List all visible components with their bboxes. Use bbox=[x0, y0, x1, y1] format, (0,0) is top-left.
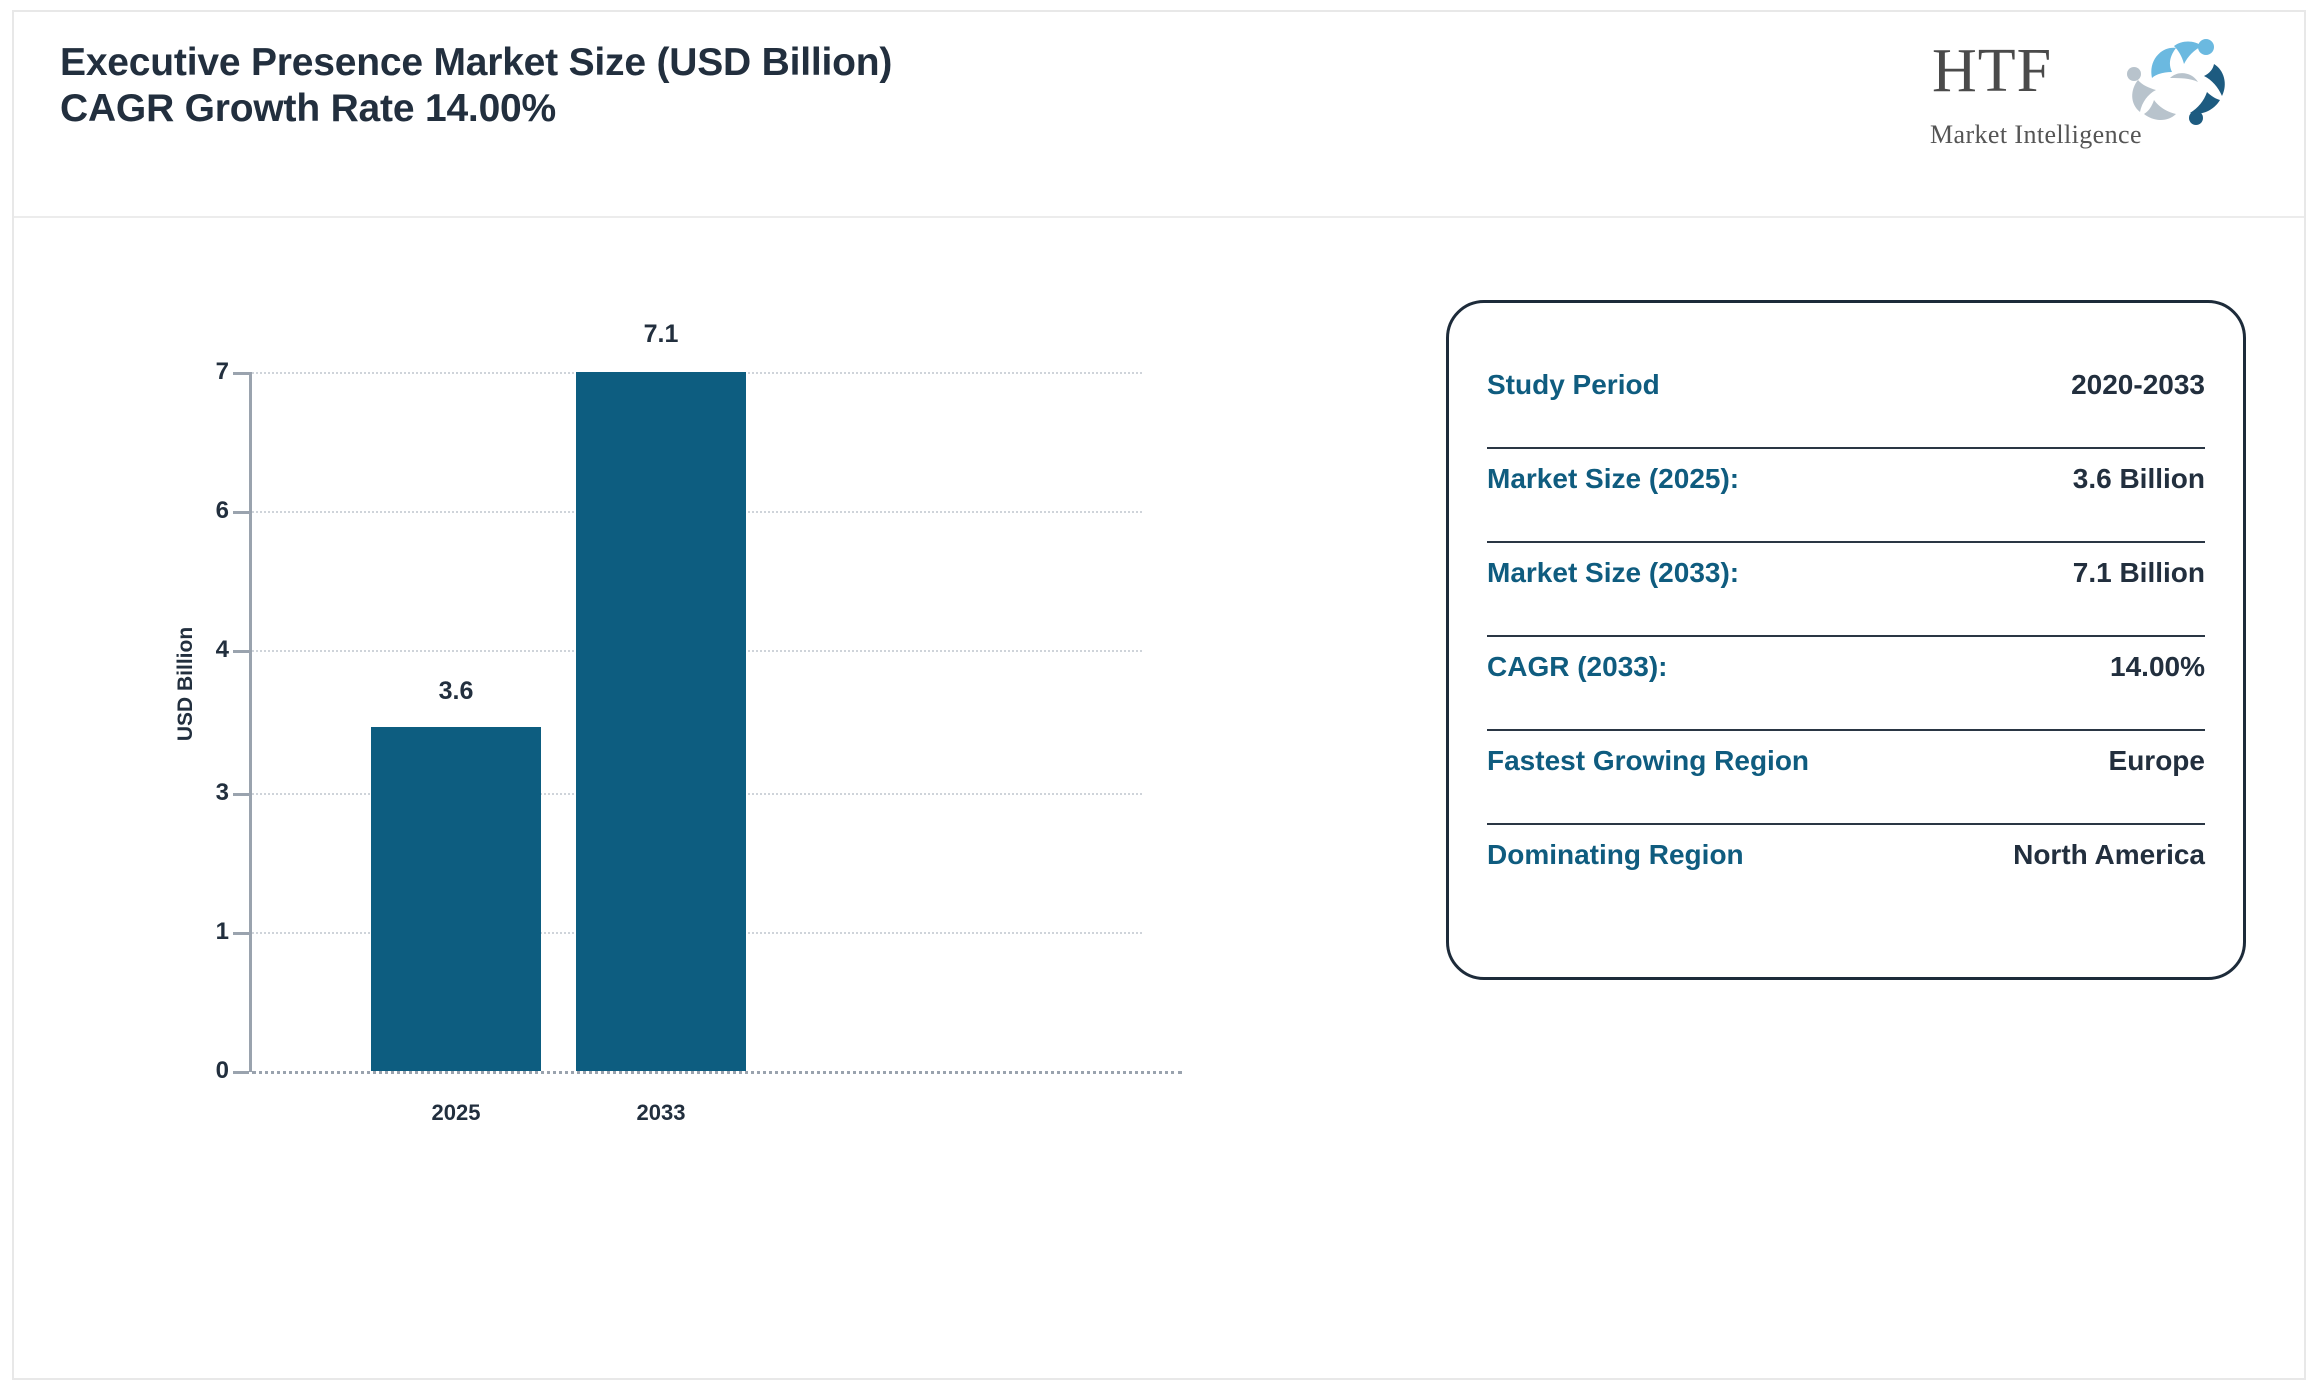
page-title-line-2: CAGR Growth Rate 14.00% bbox=[60, 86, 1620, 132]
summary-label: Market Size (2033): bbox=[1487, 557, 1739, 589]
tick-mark-6 bbox=[233, 511, 249, 514]
header: Executive Presence Market Size (USD Bill… bbox=[14, 12, 2304, 218]
tick-mark-1 bbox=[233, 932, 249, 935]
summary-value: 14.00% bbox=[2110, 651, 2205, 683]
summary-value: North America bbox=[2013, 839, 2205, 871]
bar-value-2033: 7.1 bbox=[576, 320, 746, 349]
htf-logo: HTF bbox=[1922, 32, 2252, 152]
summary-row-fastest-growing-region: Fastest Growing Region Europe bbox=[1487, 731, 2205, 825]
logo-primary-row: HTF bbox=[1922, 34, 2252, 116]
bar-2025[interactable] bbox=[371, 727, 541, 1071]
summary-label: Market Size (2025): bbox=[1487, 463, 1739, 495]
summary-row-study-period: Study Period 2020-2033 bbox=[1487, 355, 2205, 449]
summary-value: 7.1 Billion bbox=[2073, 557, 2205, 589]
y-tick-label-3: 3 bbox=[189, 781, 229, 805]
summary-label: Study Period bbox=[1487, 369, 1660, 401]
summary-row-cagr-2033: CAGR (2033): 14.00% bbox=[1487, 637, 2205, 731]
summary-value: Europe bbox=[2109, 745, 2205, 777]
page-title-line-1: Executive Presence Market Size (USD Bill… bbox=[60, 40, 1620, 86]
x-tick-label-2033: 2033 bbox=[576, 1100, 746, 1126]
tick-mark-4 bbox=[233, 650, 249, 653]
page-frame: Executive Presence Market Size (USD Bill… bbox=[12, 10, 2306, 1380]
summary-label: Dominating Region bbox=[1487, 839, 1744, 871]
market-summary-rows: Study Period 2020-2033 Market Size (2025… bbox=[1487, 355, 2205, 919]
bar-2033[interactable] bbox=[576, 372, 746, 1071]
summary-value: 2020-2033 bbox=[2071, 369, 2205, 401]
logo-tagline: Market Intelligence bbox=[1930, 120, 2142, 150]
y-tick-label-4: 4 bbox=[189, 638, 229, 662]
y-tick-label-7: 7 bbox=[189, 360, 229, 384]
summary-label: Fastest Growing Region bbox=[1487, 745, 1809, 777]
plot-area: USD Billion 7 6 4 3 1 0 3.6 7.1 bbox=[249, 372, 1179, 1072]
tick-mark-0 bbox=[233, 1071, 249, 1074]
y-axis-line bbox=[249, 372, 252, 1072]
x-tick-label-2025: 2025 bbox=[371, 1100, 541, 1126]
bar-chart: USD Billion 7 6 4 3 1 0 3.6 7.1 bbox=[74, 242, 1374, 1282]
three-figures-circle-icon bbox=[2118, 34, 2242, 126]
gridline-0 bbox=[252, 1071, 1182, 1074]
y-tick-label-0: 0 bbox=[189, 1059, 229, 1083]
market-summary-card: Study Period 2020-2033 Market Size (2025… bbox=[1446, 300, 2246, 980]
tick-mark-3 bbox=[233, 793, 249, 796]
page-title: Executive Presence Market Size (USD Bill… bbox=[60, 40, 1620, 132]
summary-row-market-size-2033: Market Size (2033): 7.1 Billion bbox=[1487, 543, 2205, 637]
y-tick-label-6: 6 bbox=[189, 499, 229, 523]
summary-row-dominating-region: Dominating Region North America bbox=[1487, 825, 2205, 919]
logo-wordmark: HTF bbox=[1932, 40, 2052, 102]
summary-label: CAGR (2033): bbox=[1487, 651, 1667, 683]
summary-value: 3.6 Billion bbox=[2073, 463, 2205, 495]
summary-row-market-size-2025: Market Size (2025): 3.6 Billion bbox=[1487, 449, 2205, 543]
tick-mark-7 bbox=[233, 372, 249, 375]
y-tick-label-1: 1 bbox=[189, 920, 229, 944]
bar-value-2025: 3.6 bbox=[371, 677, 541, 706]
